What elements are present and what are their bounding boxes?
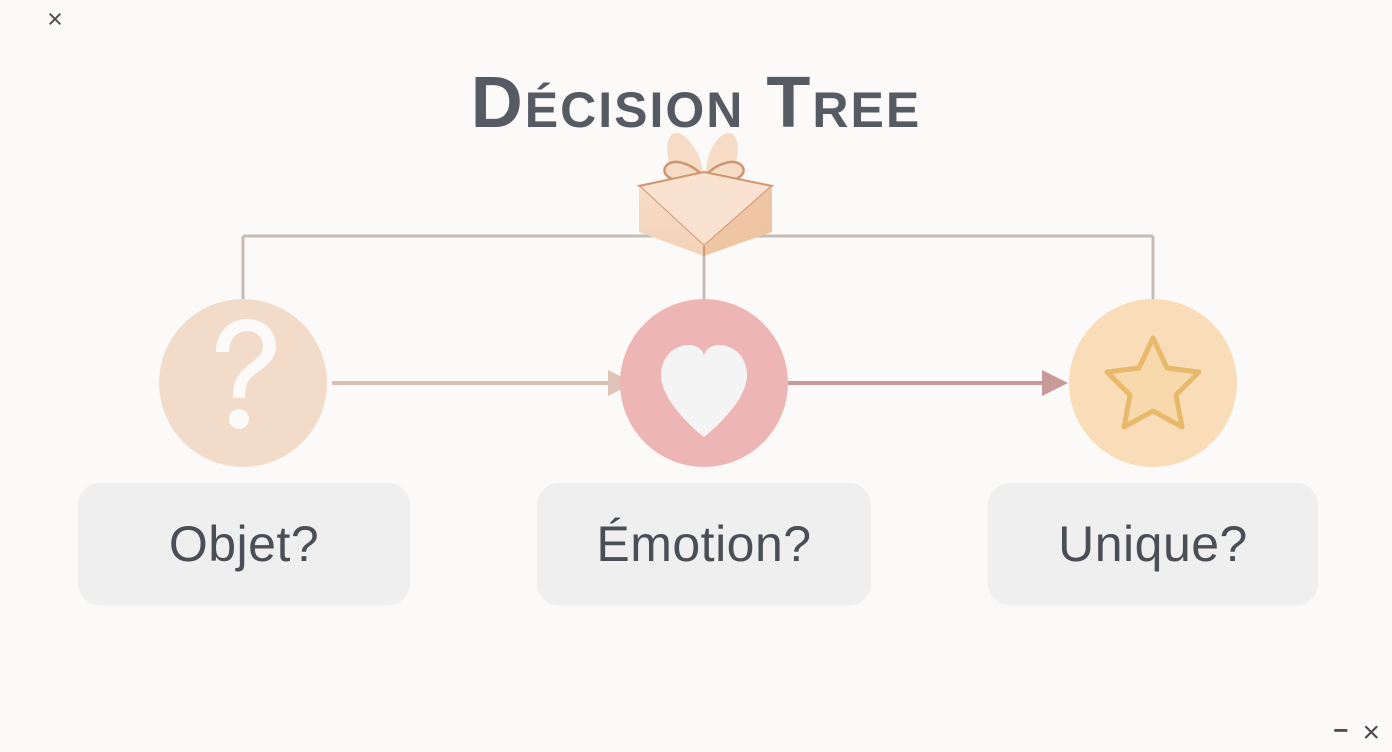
label-card-text: Unique?: [1058, 515, 1248, 573]
arrow-emotion-to-unique: [788, 370, 1068, 396]
label-card-objet[interactable]: Objet?: [78, 483, 410, 605]
label-card-emotion[interactable]: Émotion?: [537, 483, 871, 605]
label-card-text: Émotion?: [596, 515, 811, 573]
decision-tree-diagram: [0, 0, 1392, 752]
minimize-icon[interactable]: −: [1333, 717, 1348, 743]
window-controls: − ×: [1333, 718, 1380, 748]
node-emotion[interactable]: [620, 299, 788, 467]
arrow-head: [1042, 370, 1068, 396]
node-objet[interactable]: [159, 299, 327, 467]
question-mark-dot: [229, 409, 249, 429]
app-window: × Décision Tree: [0, 0, 1392, 752]
gift-box-icon: [639, 129, 772, 256]
close-icon[interactable]: ×: [1362, 718, 1380, 748]
label-card-text: Objet?: [169, 515, 319, 573]
label-card-unique[interactable]: Unique?: [988, 483, 1318, 605]
arrow-objet-to-emotion: [332, 370, 634, 396]
node-unique[interactable]: [1069, 299, 1237, 467]
